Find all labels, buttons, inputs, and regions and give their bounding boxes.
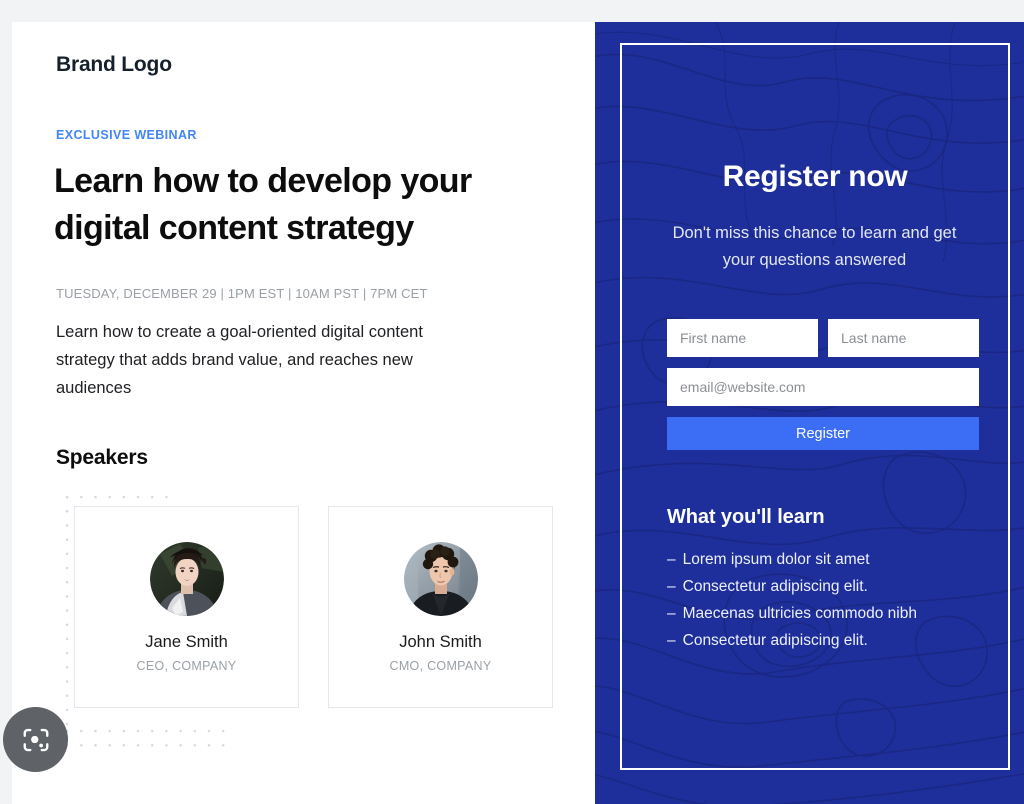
webinar-landing-page: Brand Logo EXCLUSIVE WEBINAR Learn how t… [12,22,1024,804]
brand-logo[interactable]: Brand Logo [56,53,172,77]
avatar [150,542,224,616]
register-heading: Register now [620,160,1010,194]
email-input[interactable] [667,368,979,406]
learn-list-item: –Maecenas ultricies commodo nibh [667,600,997,627]
speaker-name: Jane Smith [145,633,228,652]
speaker-role: CMO, COMPANY [390,659,492,673]
bullet-dash: – [667,578,676,595]
google-lens-button[interactable] [3,707,68,772]
last-name-input[interactable] [828,319,979,357]
avatar [404,542,478,616]
bullet-dash: – [667,551,676,568]
screenshot-viewport: Brand Logo EXCLUSIVE WEBINAR Learn how t… [0,0,1024,804]
landing-left-column: Brand Logo EXCLUSIVE WEBINAR Learn how t… [12,22,607,804]
register-submit-button[interactable]: Register [667,417,979,450]
speaker-name: John Smith [399,633,482,652]
what-youll-learn-list: –Lorem ipsum dolor sit amet–Consectetur … [667,546,997,654]
learn-list-item-label: Consectetur adipiscing elit. [683,632,868,649]
speaker-role: CEO, COMPANY [137,659,237,673]
page-title: Learn how to develop your digital conten… [54,158,524,252]
learn-list-item: –Consectetur adipiscing elit. [667,627,997,654]
dot-grid-decoration [58,488,74,738]
learn-list-item-label: Consectetur adipiscing elit. [683,578,868,595]
event-datetime: TUESDAY, DECEMBER 29 | 1PM EST | 10AM PS… [56,286,428,301]
registration-panel: Register now Don't miss this chance to l… [595,22,1024,804]
registration-form: Register [667,319,979,450]
google-lens-search-icon [21,725,51,755]
learn-list-item: –Lorem ipsum dolor sit amet [667,546,997,573]
name-row [667,319,979,357]
eyebrow-label: EXCLUSIVE WEBINAR [56,128,197,142]
bullet-dash: – [667,605,676,622]
bullet-dash: – [667,632,676,649]
learn-list-item-label: Lorem ipsum dolor sit amet [683,551,870,568]
learn-list-item-label: Maecenas ultricies commodo nibh [683,605,917,622]
register-subheading: Don't miss this chance to learn and get … [655,220,974,274]
speaker-card[interactable]: Jane Smith CEO, COMPANY [74,506,299,708]
dot-grid-decoration [58,722,236,752]
learn-list-item: –Consectetur adipiscing elit. [667,573,997,600]
speakers-heading: Speakers [56,446,148,470]
event-description: Learn how to create a goal-oriented digi… [56,318,446,402]
what-youll-learn-heading: What you'll learn [667,506,825,529]
speaker-card[interactable]: John Smith CMO, COMPANY [328,506,553,708]
first-name-input[interactable] [667,319,818,357]
